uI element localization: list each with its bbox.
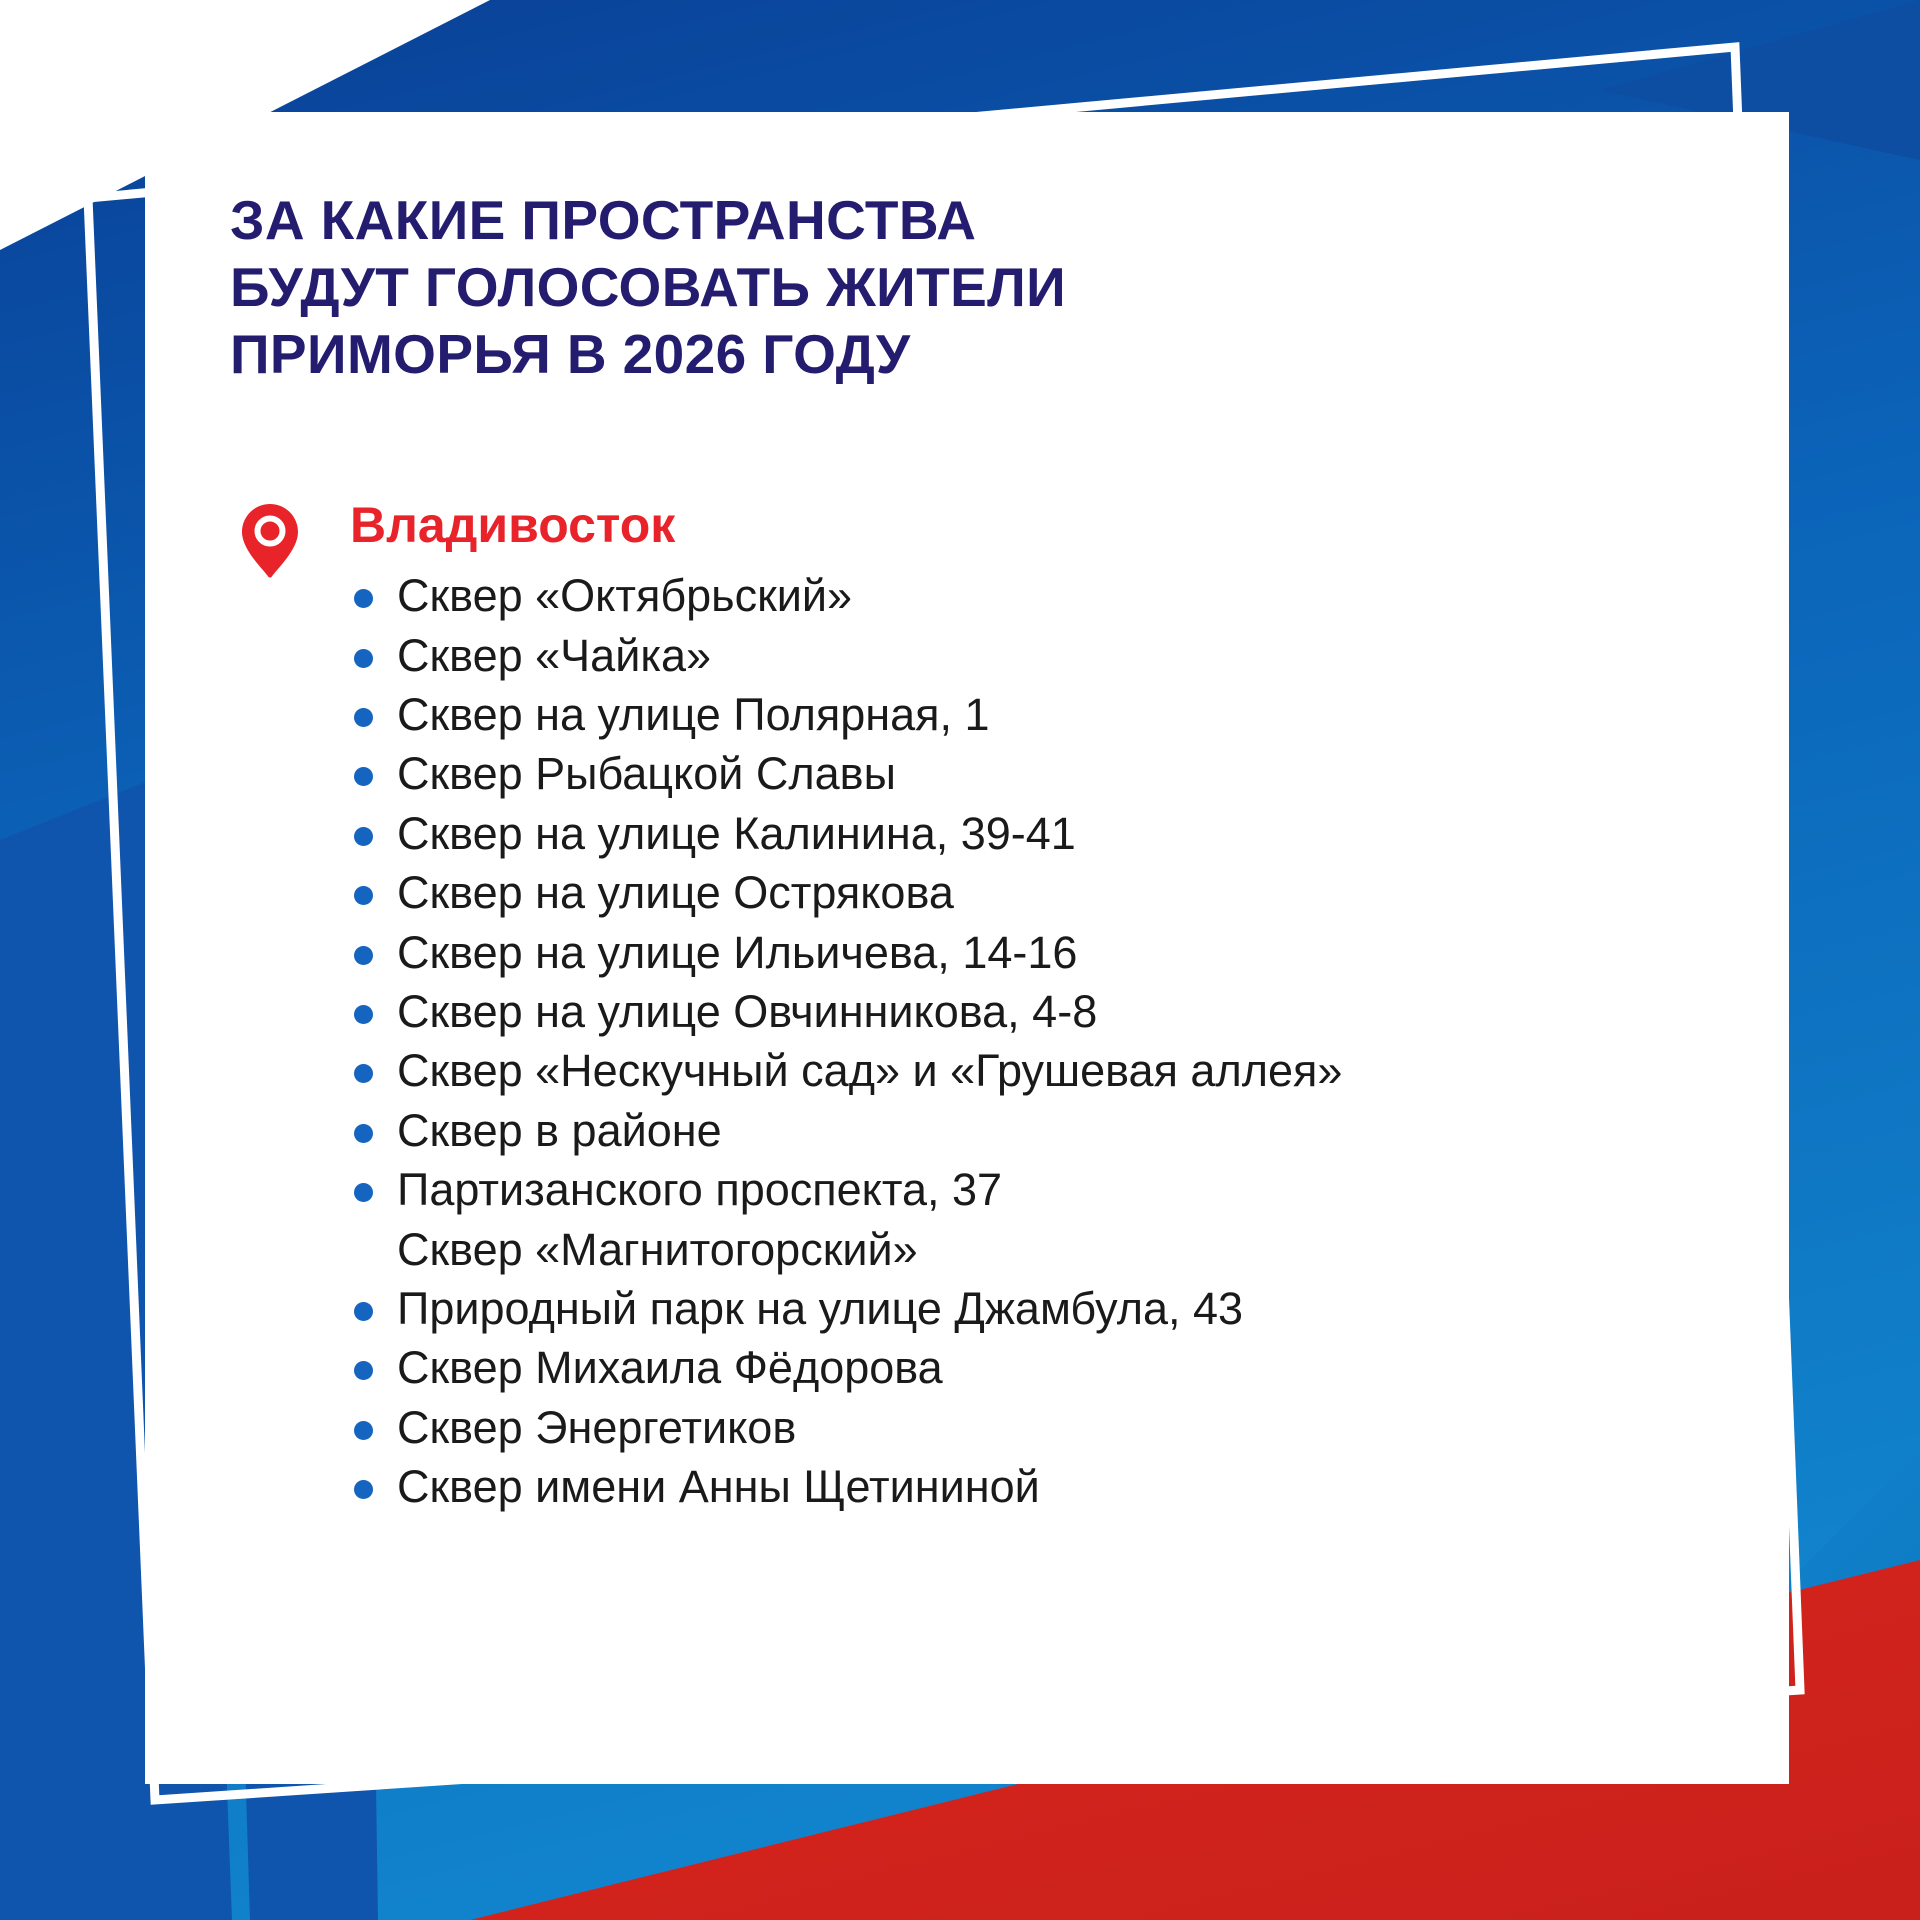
list-item: Природный парк на улице Джамбула, 43 <box>350 1279 1749 1338</box>
list-item: Сквер «Нескучный сад» и «Грушевая аллея» <box>350 1041 1749 1100</box>
list-item: Сквер имени Анны Щетининой <box>350 1457 1749 1516</box>
list-item: Сквер на улице Полярная, 1 <box>350 685 1749 744</box>
pin-wrapper <box>230 500 350 578</box>
city-column: Владивосток Сквер «Октябрьский» Сквер «Ч… <box>350 500 1749 1516</box>
list-item: Сквер Энергетиков <box>350 1398 1749 1457</box>
card-inner: ЗА КАКИЕ ПРОСТРАНСТВА БУДУТ ГОЛОСОВАТЬ Ж… <box>230 187 1749 1517</box>
poster-root: ЗА КАКИЕ ПРОСТРАНСТВА БУДУТ ГОЛОСОВАТЬ Ж… <box>0 0 1920 1920</box>
list-item: Сквер в районе <box>350 1101 1749 1160</box>
list-item: Сквер на улице Острякова <box>350 863 1749 922</box>
list-item: Сквер на улице Ильичева, 14-16 <box>350 923 1749 982</box>
page-title: ЗА КАКИЕ ПРОСТРАНСТВА БУДУТ ГОЛОСОВАТЬ Ж… <box>230 187 1749 388</box>
list-item: Партизанского проспекта, 37 <box>350 1160 1749 1219</box>
list-item: Сквер «Чайка» <box>350 626 1749 685</box>
list-item: Сквер Михаила Фёдорова <box>350 1338 1749 1397</box>
places-list: Сквер «Октябрьский» Сквер «Чайка» Сквер … <box>350 566 1749 1516</box>
list-item: Сквер «Октябрьский» <box>350 566 1749 625</box>
content-card: ЗА КАКИЕ ПРОСТРАНСТВА БУДУТ ГОЛОСОВАТЬ Ж… <box>145 112 1789 1784</box>
list-item: Сквер на улице Калинина, 39-41 <box>350 804 1749 863</box>
list-item: Сквер на улице Овчинникова, 4-8 <box>350 982 1749 1041</box>
map-pin-icon <box>242 504 298 578</box>
city-name: Владивосток <box>350 500 1749 550</box>
list-item-continuation: Сквер «Магнитогорский» <box>350 1220 1749 1279</box>
list-item: Сквер Рыбацкой Славы <box>350 744 1749 803</box>
city-section: Владивосток Сквер «Октябрьский» Сквер «Ч… <box>230 500 1749 1516</box>
